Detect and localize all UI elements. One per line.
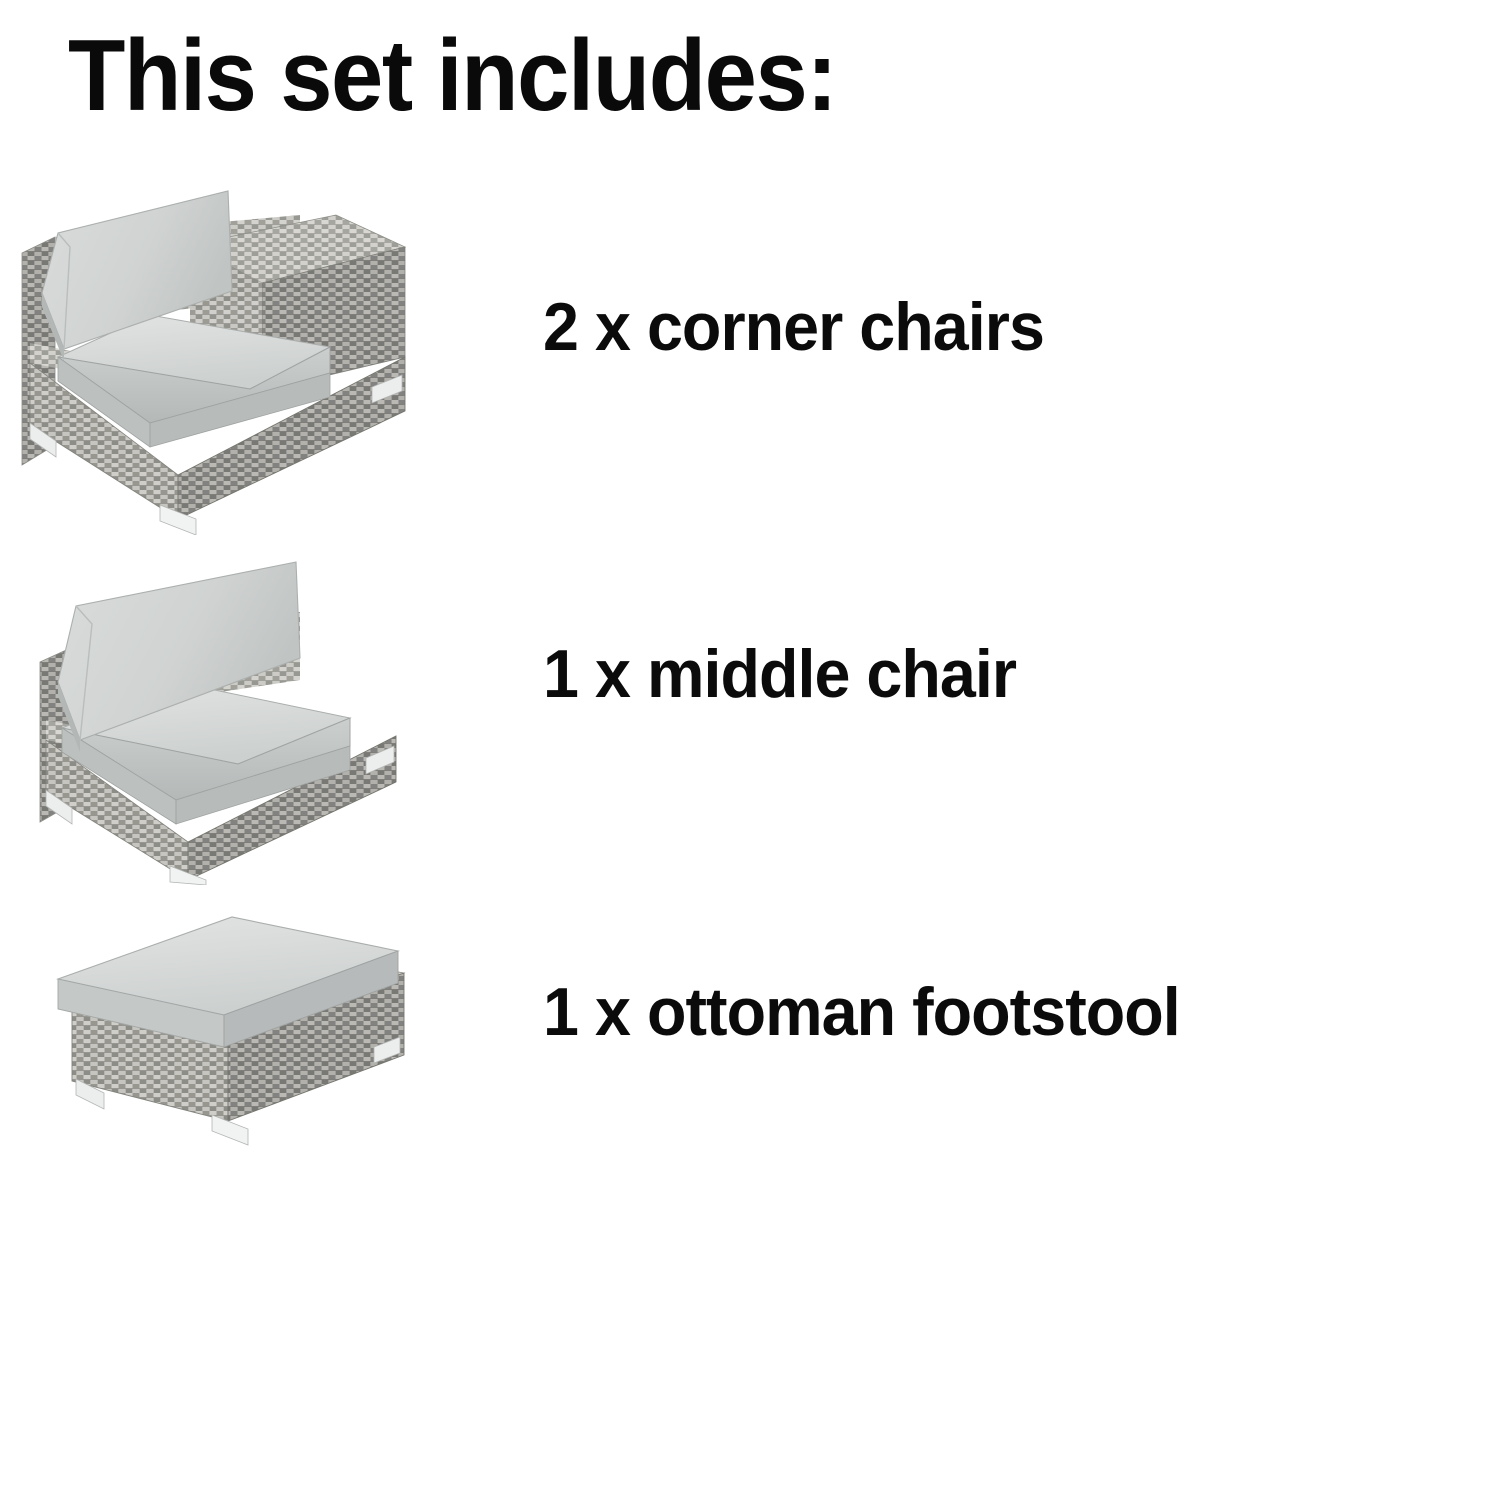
item-label-ottoman-footstool: 1 x ottoman footstool (543, 973, 1180, 1051)
list-item-corner-chair: 2 x corner chairs (0, 175, 1500, 535)
list-item-ottoman-footstool: 1 x ottoman footstool (0, 895, 1500, 1160)
ottoman-footstool-image (0, 895, 420, 1160)
middle-chair-image (0, 550, 420, 885)
corner-chair-image (0, 175, 420, 535)
page-title: This set includes: (68, 26, 836, 127)
list-item-middle-chair: 1 x middle chair (0, 550, 1500, 885)
item-label-middle-chair: 1 x middle chair (543, 635, 1016, 713)
item-label-corner-chair: 2 x corner chairs (543, 288, 1044, 366)
